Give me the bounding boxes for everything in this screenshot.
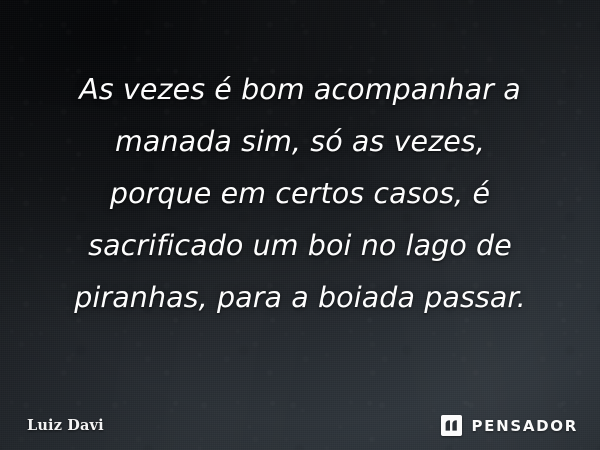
quote-line-2: manada sim, só as vezes, [18, 116, 582, 168]
quote-text: As vezes é bom acompanhar a manada sim, … [0, 64, 600, 324]
quote-card: As vezes é bom acompanhar a manada sim, … [0, 0, 600, 450]
pensador-wordmark: PENSADOR [471, 417, 578, 435]
author-name: Luiz Davi [27, 417, 104, 434]
quote-line-3: porque em certos casos, é [18, 168, 582, 220]
quotation-mark-icon [441, 415, 462, 436]
quote-line-5: piranhas, para a boiada passar. [18, 272, 582, 324]
quote-line-4: sacrificado um boi no lago de [18, 220, 582, 272]
pensador-logo[interactable]: PENSADOR [441, 415, 578, 436]
quote-line-1: As vezes é bom acompanhar a [18, 64, 582, 116]
